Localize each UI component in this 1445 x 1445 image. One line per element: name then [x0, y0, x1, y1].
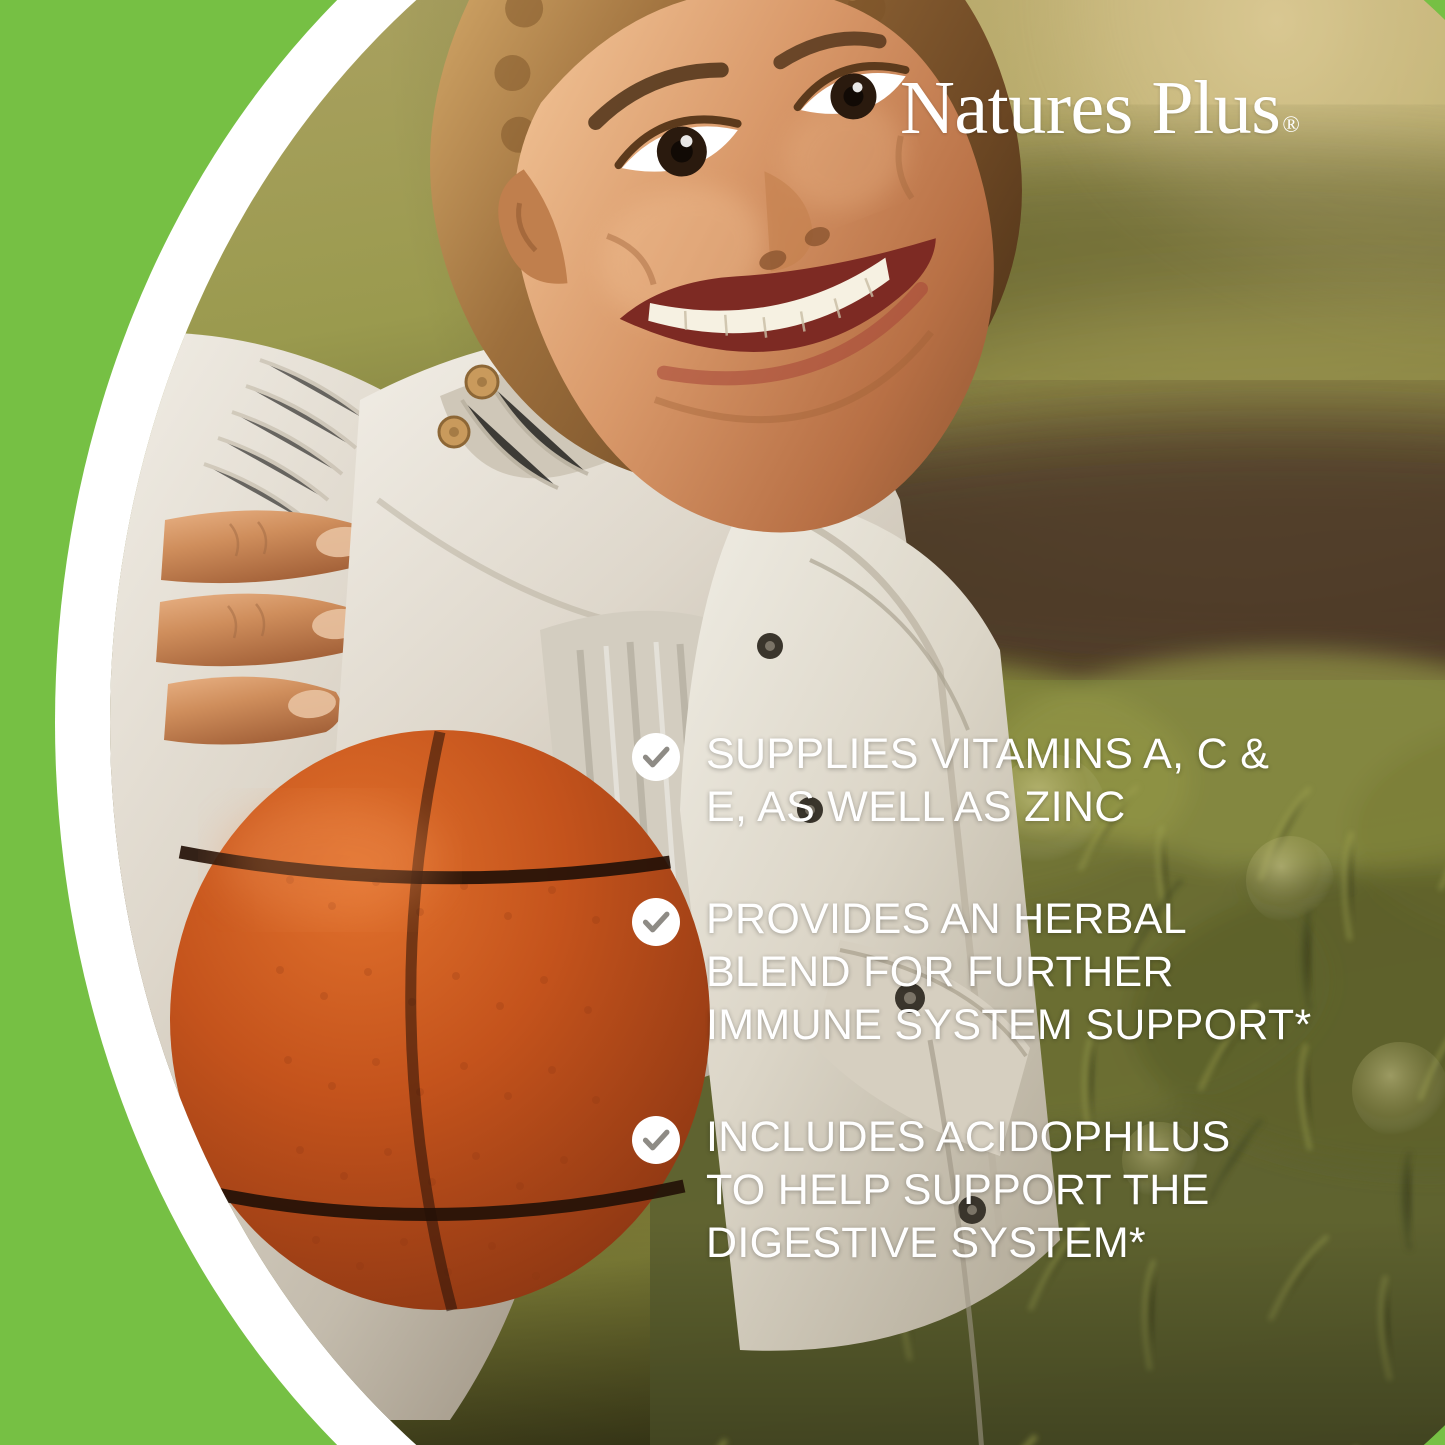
benefit-item-acidophilus: INCLUDES ACIDOPHILUS TO HELP SUPPORT THE…	[632, 1111, 1422, 1271]
benefits-list: SUPPLIES VITAMINS A, C & E, AS WELL AS Z…	[632, 728, 1422, 1271]
logo-wordmark: Natures Plus	[900, 72, 1280, 145]
benefit-item-herbal-blend: PROVIDES AN HERBAL BLEND FOR FURTHER IMM…	[632, 893, 1422, 1053]
check-circle-icon	[632, 898, 680, 946]
benefit-text: PROVIDES AN HERBAL BLEND FOR FURTHER IMM…	[706, 893, 1312, 1053]
product-benefits-banner: Natures Plus ® SUPPLIES VITAMINS A, C & …	[0, 0, 1445, 1445]
benefit-text: INCLUDES ACIDOPHILUS TO HELP SUPPORT THE…	[706, 1111, 1231, 1271]
natures-plus-logo: Natures Plus ®	[900, 72, 1300, 145]
registered-trademark-icon: ®	[1280, 113, 1299, 145]
benefit-item-vitamins: SUPPLIES VITAMINS A, C & E, AS WELL AS Z…	[632, 728, 1422, 835]
benefit-text: SUPPLIES VITAMINS A, C & E, AS WELL AS Z…	[706, 728, 1269, 835]
check-circle-icon	[632, 1116, 680, 1164]
check-circle-icon	[632, 733, 680, 781]
